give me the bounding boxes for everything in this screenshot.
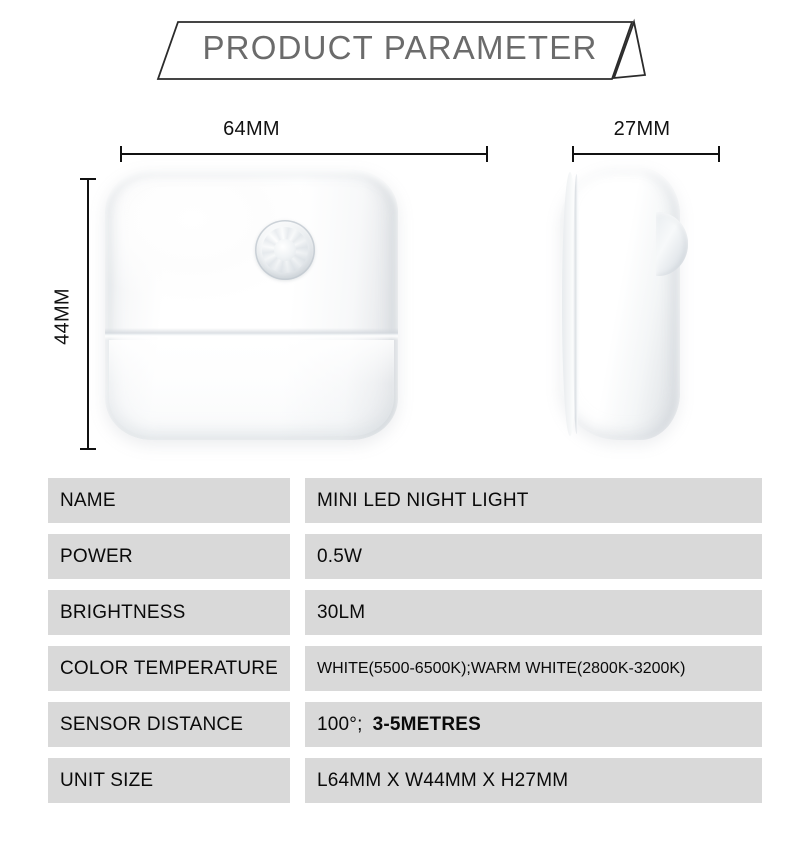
spec-key-label: UNIT SIZE <box>60 770 153 792</box>
spec-key-cell: NAME <box>48 478 290 523</box>
spec-value-cell: L64MM X W44MM X H27MM <box>305 758 762 803</box>
dimension-bar <box>120 153 488 155</box>
spec-value-cell: MINI LED NIGHT LIGHT <box>305 478 762 523</box>
pir-motion-sensor-icon <box>656 212 688 276</box>
fresnel-lens-center <box>274 239 296 261</box>
dimension-label-depth: 27MM <box>562 118 722 141</box>
dimension-cap-right <box>486 146 488 162</box>
spec-key-cell: POWER <box>48 534 290 579</box>
spec-value-label: 30LM <box>317 602 365 624</box>
spec-value-label: L64MM X W44MM X H27MM <box>317 770 568 792</box>
spec-key-label: SENSOR DISTANCE <box>60 714 243 736</box>
spec-key-cell: BRIGHTNESS <box>48 590 290 635</box>
spec-key-cell: SENSOR DISTANCE <box>48 702 290 747</box>
table-row: SENSOR DISTANCE 100°; 3-5METRES <box>0 702 800 747</box>
product-illustration-area: 64MM 44MM 27MM <box>0 100 800 475</box>
specification-table: NAME MINI LED NIGHT LIGHT POWER 0.5W BRI… <box>0 478 800 814</box>
mini-led-night-light-front-view <box>105 170 398 440</box>
dimension-bar <box>87 178 89 450</box>
spec-key-label: BRIGHTNESS <box>60 602 186 624</box>
pir-motion-sensor-icon <box>255 220 315 280</box>
dimension-line-depth <box>572 146 720 162</box>
dimension-bar <box>572 153 720 155</box>
spec-value-angle: 100°; <box>317 714 363 736</box>
table-row: NAME MINI LED NIGHT LIGHT <box>0 478 800 523</box>
spec-value-label: 0.5W <box>317 546 362 568</box>
dimension-label-height: 44MM <box>52 272 75 362</box>
spec-value-cell: 30LM <box>305 590 762 635</box>
spec-key-label: COLOR TEMPERATURE <box>60 658 278 680</box>
spec-key-cell: UNIT SIZE <box>48 758 290 803</box>
spec-key-label: NAME <box>60 490 116 512</box>
spec-value-label: 100°; 3-5METRES <box>317 714 481 736</box>
dimension-cap-right <box>718 146 720 162</box>
dimension-line-height <box>80 178 96 450</box>
mini-led-night-light-side-view <box>560 168 680 440</box>
spec-value-cell: 100°; 3-5METRES <box>305 702 762 747</box>
dimension-cap-top <box>80 178 96 180</box>
spec-value-label: MINI LED NIGHT LIGHT <box>317 490 529 512</box>
spec-value-range: 3-5METRES <box>373 714 481 736</box>
table-row: POWER 0.5W <box>0 534 800 579</box>
table-row: UNIT SIZE L64MM X W44MM X H27MM <box>0 758 800 803</box>
spec-key-cell: COLOR TEMPERATURE <box>48 646 290 691</box>
spec-value-label: WHITE(5500-6500K);WARM WHITE(2800K-3200K… <box>317 660 685 678</box>
dimension-label-width: 64MM <box>105 118 398 141</box>
dimension-cap-left <box>572 146 574 162</box>
housing-seam-line <box>105 328 398 340</box>
spec-key-label: POWER <box>60 546 133 568</box>
dimension-line-width <box>120 146 488 162</box>
table-row: BRIGHTNESS 30LM <box>0 590 800 635</box>
housing-seam-line <box>573 174 580 434</box>
page-title: PRODUCT PARAMETER <box>0 25 800 71</box>
table-row: COLOR TEMPERATURE WHITE(5500-6500K);WARM… <box>0 646 800 691</box>
housing-lower-panel <box>109 340 394 436</box>
dimension-cap-bottom <box>80 448 96 450</box>
dimension-cap-left <box>120 146 122 162</box>
page-header-banner: PRODUCT PARAMETER <box>0 0 800 100</box>
spec-value-cell: WHITE(5500-6500K);WARM WHITE(2800K-3200K… <box>305 646 762 691</box>
spec-value-cell: 0.5W <box>305 534 762 579</box>
